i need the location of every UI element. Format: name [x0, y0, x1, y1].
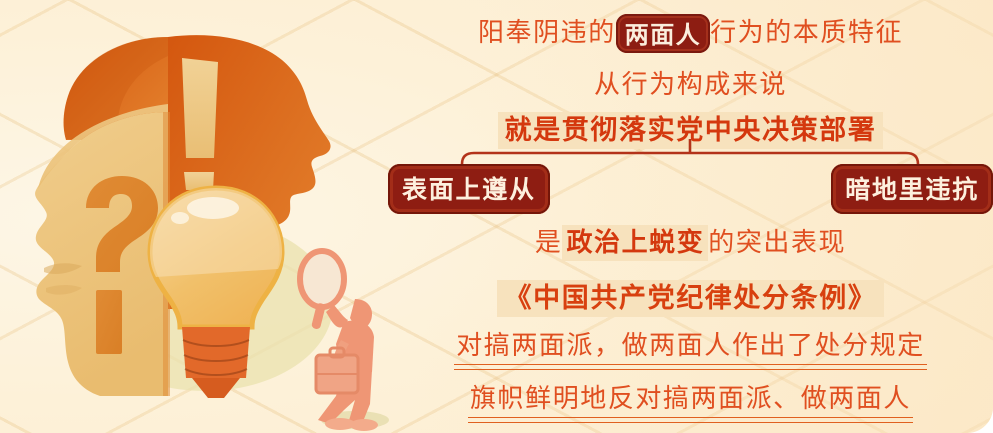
surface-compliance-pill: 表面上遵从 — [388, 164, 550, 214]
two-faced-person-pill: 两面人 — [616, 14, 710, 53]
political-degeneration-highlight: 政治上蜕变 — [562, 225, 708, 261]
secret-defiance-pill: 暗地里违抗 — [831, 164, 993, 214]
headline-prefix: 阳奉阴违的 — [478, 18, 616, 47]
line7-underlined-text: 旗帜鲜明地反对搞两面派、做两面人 — [470, 378, 911, 423]
headline-line-1: 阳奉阴违的两面人行为的本质特征 — [388, 12, 993, 53]
headline-suffix: 行为的本质特征 — [710, 18, 903, 47]
briefcase-icon — [316, 348, 358, 393]
regulation-title-highlight: 《中国共产党纪律处分条例》 — [497, 280, 883, 317]
line6-underlined-text: 对搞两面派，做两面人作出了处分规定 — [456, 325, 925, 370]
line4-suffix: 的突出表现 — [708, 228, 846, 257]
poster-root: 阳奉阴违的两面人行为的本质特征 从行为构成来说 就是贯彻落实党中央决策部署 表面… — [0, 0, 993, 433]
bulb-glint-small — [171, 212, 189, 224]
headline-line-2: 从行为构成来说 — [388, 64, 993, 101]
headline-line-4: 是政治上蜕变的突出表现 — [388, 222, 993, 259]
split-head-lightbulb-illustration — [0, 0, 400, 433]
headline-line-7: 旗帜鲜明地反对搞两面派、做两面人 — [388, 378, 993, 423]
headline-line-6: 对搞两面派，做两面人作出了处分规定 — [388, 325, 993, 370]
line4-prefix: 是 — [535, 228, 563, 257]
text-column: 阳奉阴违的两面人行为的本质特征 从行为构成来说 就是贯彻落实党中央决策部署 表面… — [388, 0, 993, 433]
bulb-glint-large — [187, 197, 239, 219]
regulation-title-line: 《中国共产党纪律处分条例》 — [388, 276, 993, 315]
